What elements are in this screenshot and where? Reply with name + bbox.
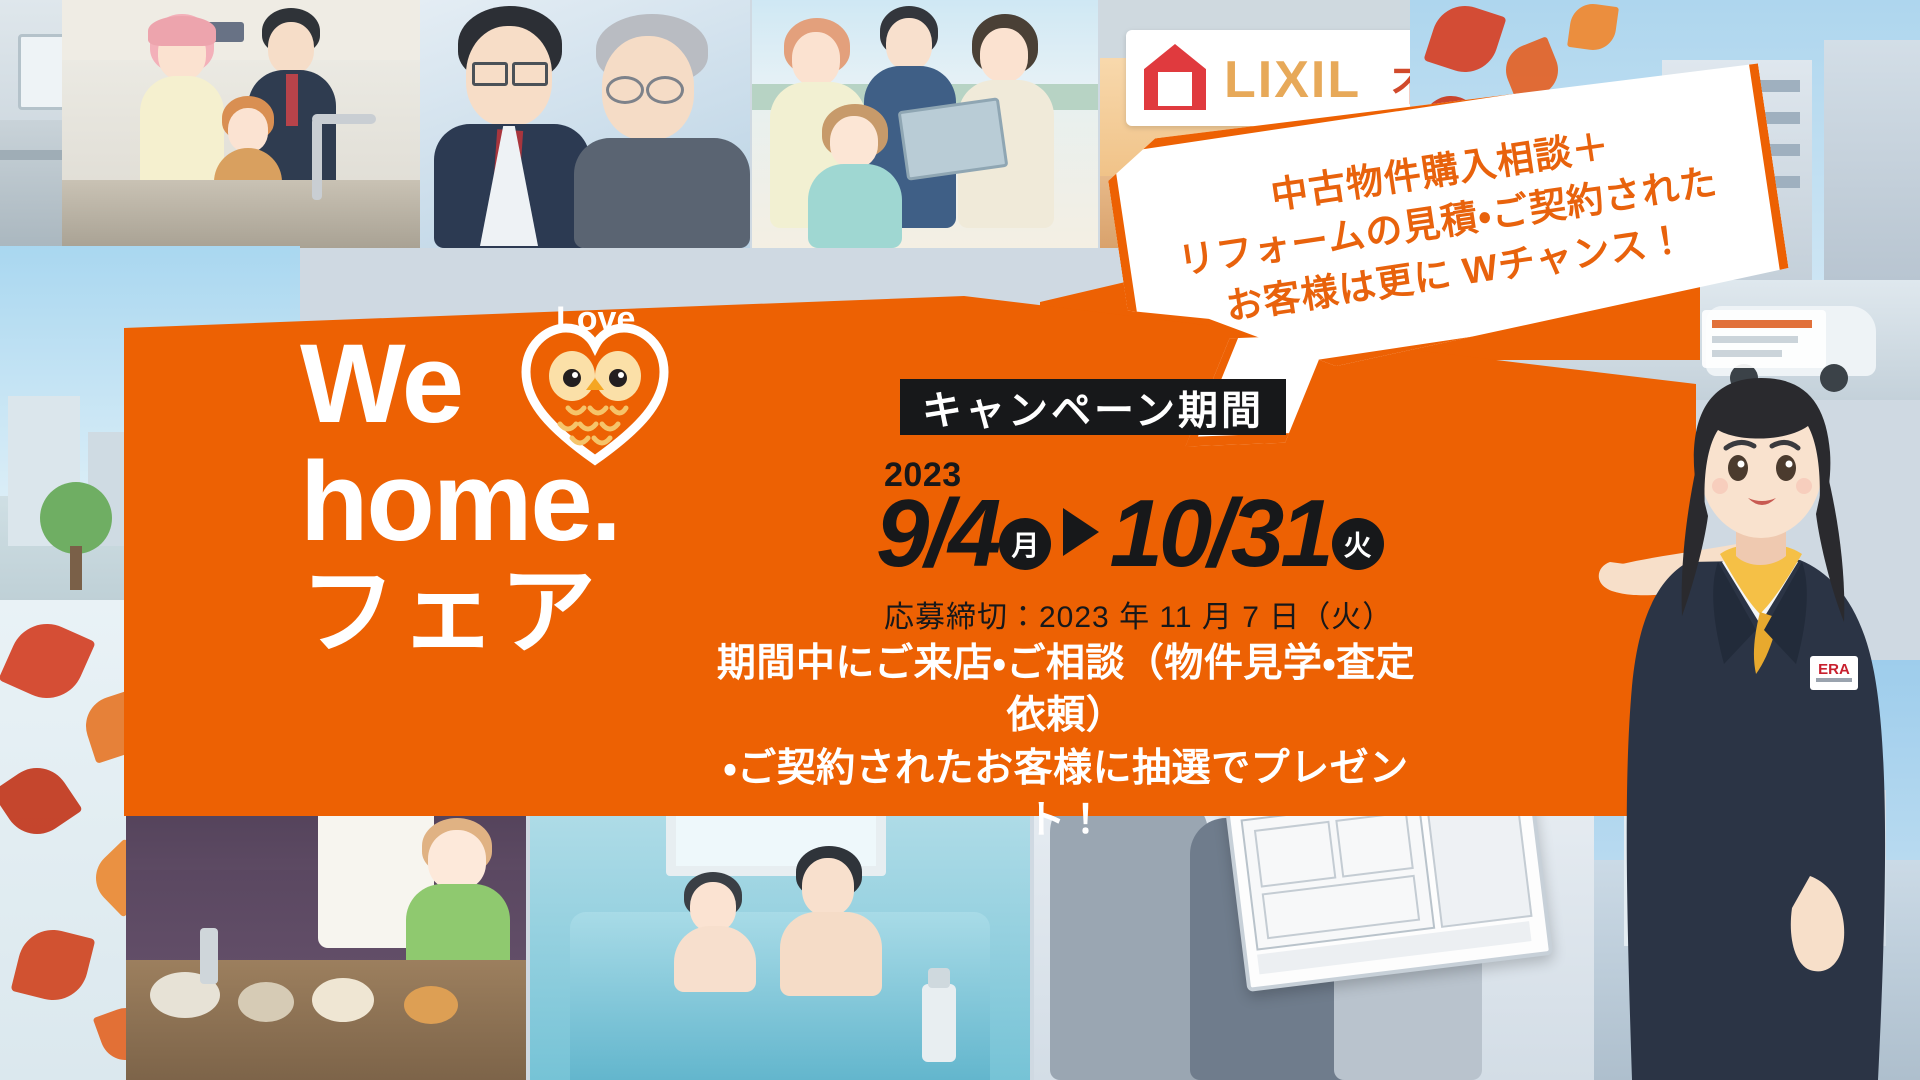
- logo-line-fair: フェア: [300, 567, 730, 659]
- campaign-end-date: 10/31: [1109, 490, 1329, 578]
- campaign-end-dow: 火: [1332, 518, 1384, 570]
- campaign-start-date: 9/4: [876, 490, 997, 578]
- staff-character-illustration: ERA: [1596, 356, 1920, 1080]
- lixil-sign-text: LIXIL: [1224, 50, 1361, 110]
- campaign-banner: LIXIL 不動産: [0, 0, 1920, 1080]
- collage-tile-showroom-family: [62, 0, 422, 248]
- campaign-start-dow: 月: [999, 518, 1051, 570]
- description-line-1: 期間中にご来店・ご相談（物件見学・査定依頼）: [716, 638, 1416, 743]
- application-deadline: 応募締切：2023 年 11 月 7 日（火）: [884, 592, 1393, 636]
- owl-in-heart-icon: [520, 316, 670, 466]
- description-line-2: ・ご契約されたお客様に抽選でプレゼント！: [716, 743, 1416, 848]
- campaign-date-range: 9/4 月 10/31 火: [876, 490, 1390, 578]
- collage-tile-counter-family: [752, 0, 1098, 248]
- arrow-right-icon: [1063, 508, 1099, 556]
- era-badge-text: ERA: [1818, 661, 1850, 678]
- campaign-description: 期間中にご来店・ご相談（物件見学・査定依頼） ・ご契約されたお客様に抽選でプレゼ…: [716, 638, 1416, 847]
- collage-tile-two-men: [420, 0, 750, 248]
- campaign-period-banner: キャンペーン期間: [900, 379, 1286, 435]
